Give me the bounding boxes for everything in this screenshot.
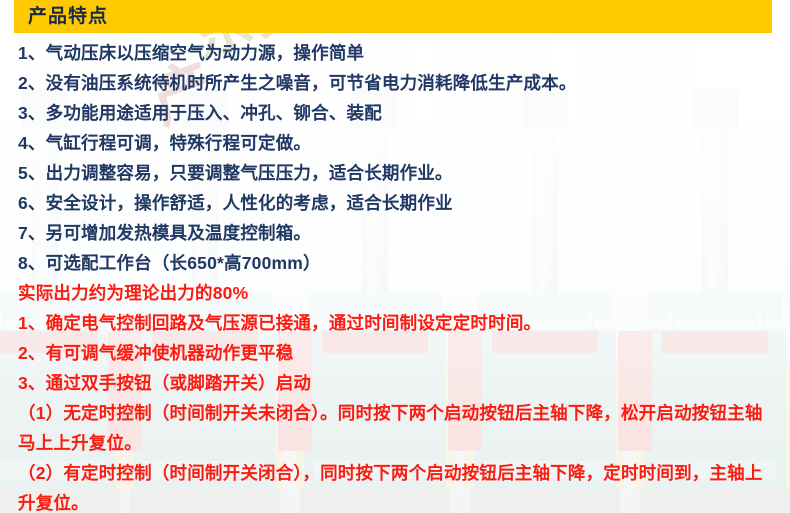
section-header-bar: 产品特点 (14, 0, 772, 33)
operation-mode: （2）有定时控制（时间制开关闭合），同时按下两个启动按钮后主轴下降，定时时间到，… (18, 458, 776, 513)
content-body: 1、气动压床以压缩空气为动力源，操作简单 2、没有油压系统待机时所产生之噪音，可… (0, 33, 790, 513)
product-features-page: 东莞 产 产品特点 1、气动压床以压缩空气为动力源，操作简单 2、没有油压系统待… (0, 0, 790, 513)
feature-item: 4、气缸行程可调，特殊行程可定做。 (18, 128, 776, 158)
output-notice: 实际出力约为理论出力的80% (18, 278, 776, 308)
operation-step: 3、通过双手按钮（或脚踏开关）启动 (18, 368, 776, 398)
feature-item: 6、安全设计，操作舒适，人性化的考虑，适合长期作业 (18, 188, 776, 218)
feature-item: 3、多功能用途适用于压入、冲孔、铆合、装配 (18, 98, 776, 128)
feature-item: 1、气动压床以压缩空气为动力源，操作简单 (18, 38, 776, 68)
page-title: 产品特点 (28, 7, 108, 26)
operation-mode: （1）无定时控制（时间制开关未闭合）。同时按下两个启动按钮后主轴下降，松开启动按… (18, 398, 776, 458)
feature-item: 7、另可增加发热模具及温度控制箱。 (18, 218, 776, 248)
feature-item: 5、出力调整容易，只要调整气压压力，适合长期作业。 (18, 158, 776, 188)
operation-step: 2、有可调气缓冲使机器动作更平稳 (18, 338, 776, 368)
operation-step: 1、确定电气控制回路及气压源已接通，通过时间制设定定时时间。 (18, 308, 776, 338)
feature-item: 2、没有油压系统待机时所产生之噪音，可节省电力消耗降低生产成本。 (18, 68, 776, 98)
feature-item: 8、可选配工作台（长650*高700mm） (18, 248, 776, 278)
